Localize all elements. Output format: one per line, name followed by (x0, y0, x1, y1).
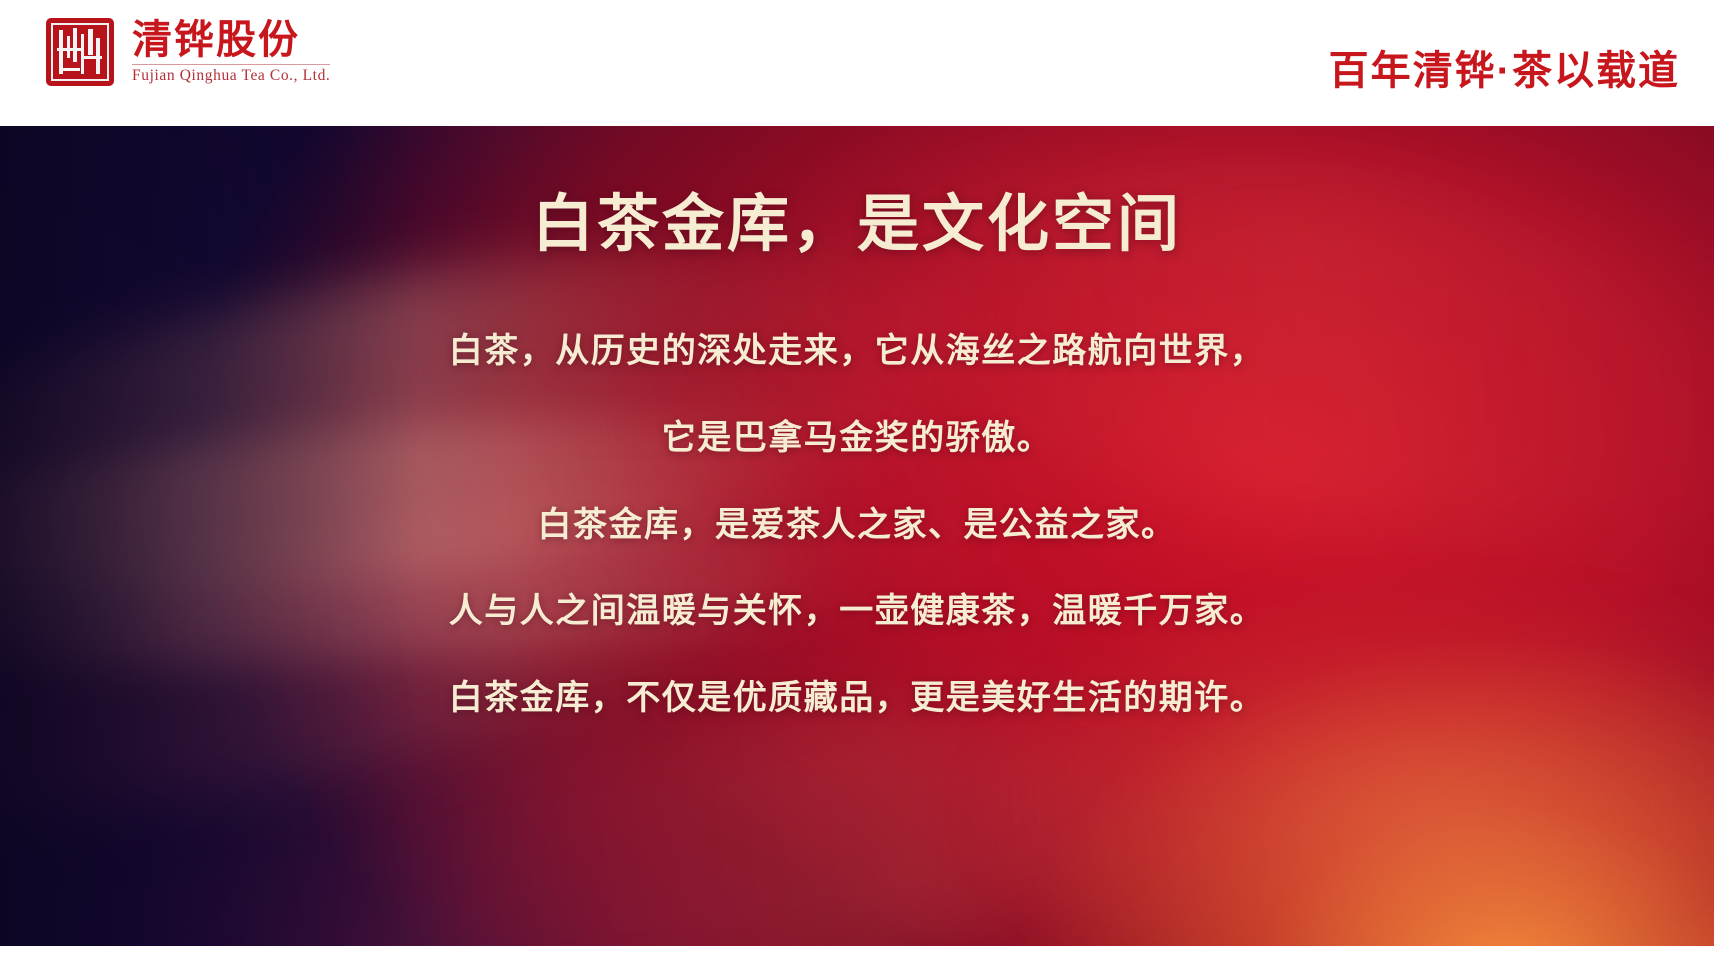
slide-title: 白茶金库，是文化空间 (0, 189, 1714, 260)
company-tagline: 百年清铧·茶以载道 (1329, 38, 1680, 96)
slide-footer-strip (0, 946, 1714, 964)
body-line: 人与人之间温暖与关怀，一壶健康茶，温暖千万家。 (0, 591, 1714, 632)
slide-body: 白茶，从历史的深处走来，它从海丝之路航向世界， 它是巴拿马金奖的骄傲。 白茶金库… (0, 331, 1714, 719)
brand-name-chinese: 清铧股份 (132, 19, 330, 61)
body-line: 白茶金库，不仅是优质藏品，更是美好生活的期许。 (0, 678, 1714, 719)
red-seal-chop-icon (46, 18, 114, 86)
brand-text-block: 清铧股份 Fujian Qinghua Tea Co., Ltd. (132, 19, 330, 85)
slide-content: 白茶金库，是文化空间 白茶，从历史的深处走来，它从海丝之路航向世界， 它是巴拿马… (0, 126, 1714, 946)
slide-canvas: 白茶金库，是文化空间 白茶，从历史的深处走来，它从海丝之路航向世界， 它是巴拿马… (0, 126, 1714, 946)
body-line: 白茶金库，是爱茶人之家、是公益之家。 (0, 505, 1714, 546)
presentation-slide: 清铧股份 Fujian Qinghua Tea Co., Ltd. 百年清铧·茶… (0, 0, 1714, 964)
body-line: 它是巴拿马金奖的骄傲。 (0, 418, 1714, 459)
slide-header: 清铧股份 Fujian Qinghua Tea Co., Ltd. 百年清铧·茶… (0, 0, 1714, 126)
brand-divider (132, 64, 330, 65)
body-line: 白茶，从历史的深处走来，它从海丝之路航向世界， (0, 331, 1714, 372)
brand-name-english: Fujian Qinghua Tea Co., Ltd. (132, 67, 330, 85)
company-logo: 清铧股份 Fujian Qinghua Tea Co., Ltd. (46, 18, 330, 86)
